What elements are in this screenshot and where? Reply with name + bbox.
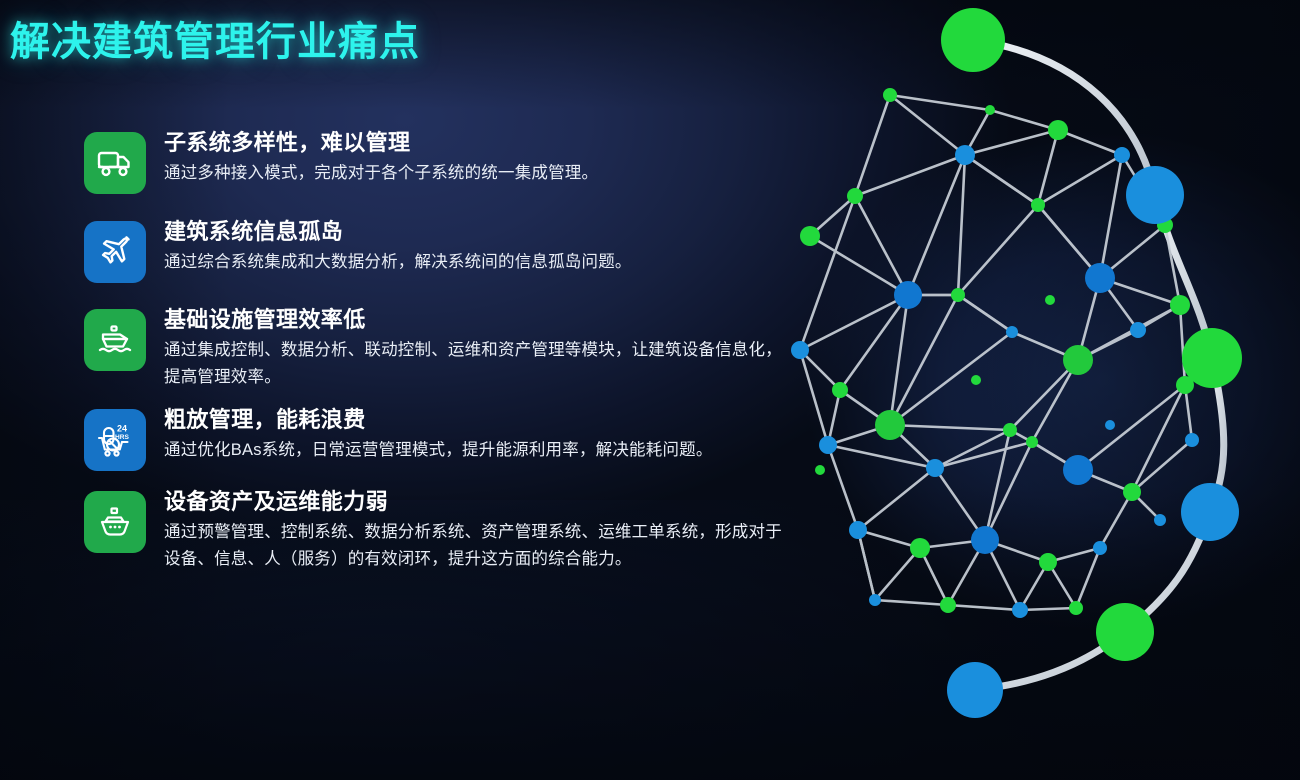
page-title: 解决建筑管理行业痛点 [10,9,420,67]
airplane-icon [84,221,146,283]
truck-icon [84,132,146,194]
pain-point-list: 子系统多样性，难以管理 通过多种接入模式，完成对于各个子系统的统一集成管理。 建… [84,128,814,590]
list-item-title: 子系统多样性，难以管理 [164,128,598,157]
list-item[interactable]: 设备资产及运维能力弱 通过预警管理、控制系统、数据分析系统、资产管理系统、运维工… [84,487,814,573]
list-item[interactable]: 子系统多样性，难以管理 通过多种接入模式，完成对于各个子系统的统一集成管理。 [84,128,814,194]
list-item-desc: 通过综合系统集成和大数据分析，解决系统间的信息孤岛问题。 [164,249,632,276]
list-item[interactable]: 建筑系统信息孤岛 通过综合系统集成和大数据分析，解决系统间的信息孤岛问题。 [84,217,814,283]
list-item[interactable]: 基础设施管理效率低 通过集成控制、数据分析、联动控制、运维和资产管理等模块，让建… [84,305,814,391]
list-item-desc: 通过优化BAs系统，日常运营管理模式，提升能源利用率，解决能耗问题。 [164,437,713,464]
list-item-text: 粗放管理，能耗浪费 通过优化BAs系统，日常运营管理模式，提升能源利用率，解决能… [164,405,713,464]
list-item-title: 建筑系统信息孤岛 [164,217,632,246]
slide-root: 解决建筑管理行业痛点 子系统多样性，难以管理 通过多种接入模式，完成对于各个子系… [0,0,1300,780]
list-item-desc: 通过多种接入模式，完成对于各个子系统的统一集成管理。 [164,160,598,187]
list-item-title: 粗放管理，能耗浪费 [164,405,713,434]
list-item-text: 建筑系统信息孤岛 通过综合系统集成和大数据分析，解决系统间的信息孤岛问题。 [164,217,632,276]
list-item-text: 子系统多样性，难以管理 通过多种接入模式，完成对于各个子系统的统一集成管理。 [164,128,598,187]
svg-text:24: 24 [117,423,127,433]
list-item-text: 设备资产及运维能力弱 通过预警管理、控制系统、数据分析系统、资产管理系统、运维工… [164,487,789,573]
ship-icon [84,491,146,553]
pharmacy-cart-24hrs-icon: 24 HRS [84,409,146,471]
boat-icon [84,309,146,371]
list-item-title: 设备资产及运维能力弱 [164,487,789,516]
list-item-title: 基础设施管理效率低 [164,305,789,334]
list-item[interactable]: 24 HRS 粗放管理，能耗浪费 通过优化BAs系统，日常运营管理模式，提升能源… [84,405,814,471]
list-item-desc: 通过集成控制、数据分析、联动控制、运维和资产管理等模块，让建筑设备信息化，提高管… [164,337,789,390]
list-item-desc: 通过预警管理、控制系统、数据分析系统、资产管理系统、运维工单系统，形成对于设备、… [164,519,789,572]
list-item-text: 基础设施管理效率低 通过集成控制、数据分析、联动控制、运维和资产管理等模块，让建… [164,305,789,391]
